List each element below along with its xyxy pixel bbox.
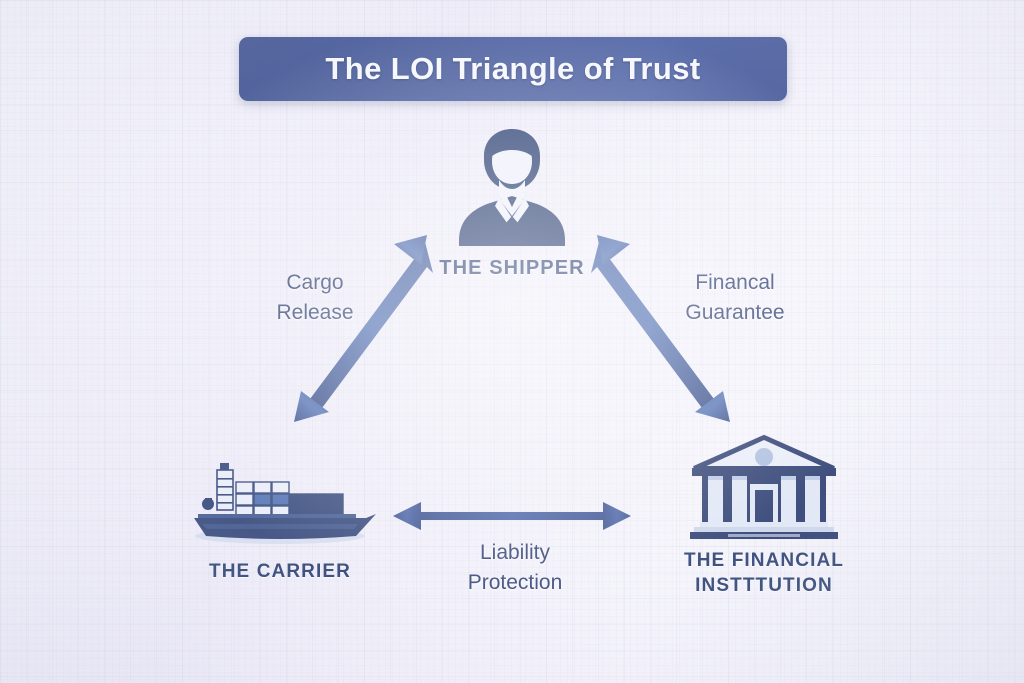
- node-financial-institution-label: THE FINANCIAL INSTTTUTION: [684, 549, 844, 598]
- diagram-canvas: The LOI Triangle of Trust THE SHIPPER: [0, 0, 1024, 683]
- node-shipper-label: THE SHIPPER: [439, 255, 584, 281]
- edge-label-cargo-release: Cargo Release: [240, 268, 390, 328]
- bank-building-icon: [684, 434, 844, 539]
- container-ship-icon: [180, 452, 380, 548]
- edge-label-liability-protection: Liability Protection: [430, 538, 600, 598]
- node-shipper: THE SHIPPER: [392, 124, 632, 281]
- edge-label-financial-guarantee: Financal Guarantee: [650, 268, 820, 328]
- page-title: The LOI Triangle of Trust: [325, 51, 700, 87]
- businessman-icon: [437, 124, 587, 249]
- arrow-liability-protection: [393, 502, 631, 530]
- node-carrier-label: THE CARRIER: [209, 560, 351, 585]
- title-banner: The LOI Triangle of Trust: [239, 37, 787, 101]
- node-carrier: THE CARRIER: [158, 452, 402, 585]
- node-financial-institution: THE FINANCIAL INSTTTUTION: [642, 434, 886, 598]
